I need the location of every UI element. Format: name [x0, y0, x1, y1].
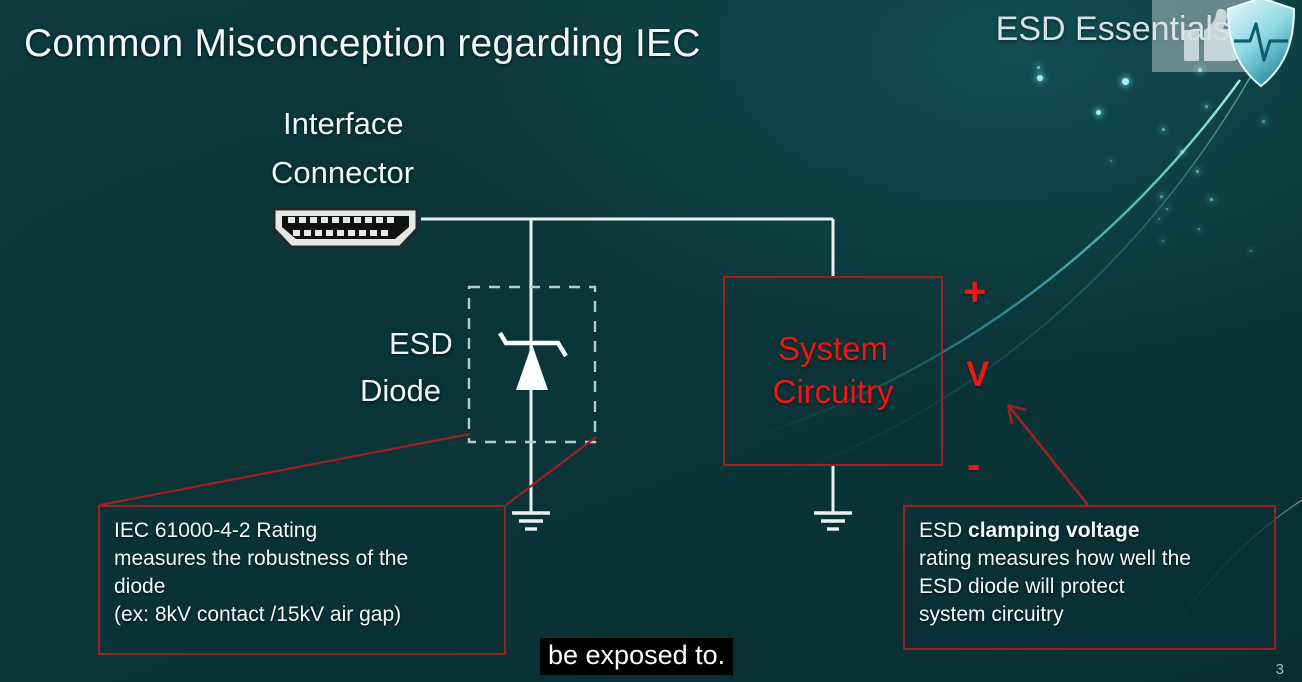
polarity-minus-label: -	[967, 443, 980, 488]
system-circuitry-label-line1: System	[778, 328, 888, 371]
callout-right-prefix: ESD	[919, 519, 968, 542]
callout-left-line-4: (ex: 8kV contact /15kV air gap)	[114, 601, 490, 629]
callout-left: IEC 61000-4-2 Rating measures the robust…	[98, 505, 506, 655]
zener-diode-icon	[500, 333, 566, 390]
callout-right-line-1: ESD clamping voltage	[919, 517, 1260, 545]
video-caption: be exposed to.	[540, 638, 733, 675]
callout-right-line-2: rating measures how well the	[919, 545, 1260, 573]
callout-right-emphasis: clamping voltage	[968, 519, 1140, 542]
page-number: 3	[1276, 661, 1284, 678]
callout-right-line-3: ESD diode will protect	[919, 573, 1260, 601]
callout-left-line-1: IEC 61000-4-2 Rating	[114, 517, 490, 545]
callout-right: ESD clamping voltage rating measures how…	[903, 505, 1276, 650]
system-circuitry-label-line2: Circuitry	[773, 371, 894, 414]
slide-canvas: Common Misconception regarding IEC ESD E…	[0, 0, 1302, 682]
callout-left-leader	[100, 434, 596, 505]
polarity-plus-label: +	[963, 270, 986, 315]
callout-right-arrow	[1008, 405, 1088, 505]
system-circuitry-box: System Circuitry	[723, 276, 943, 466]
ground-symbol-esd	[512, 513, 550, 529]
callout-left-line-3: diode	[114, 573, 490, 601]
callout-right-line-4: system circuitry	[919, 601, 1260, 629]
callout-left-line-2: measures the robustness of the	[114, 545, 490, 573]
polarity-voltage-label: V	[966, 355, 989, 395]
ground-symbol-system	[814, 513, 852, 529]
